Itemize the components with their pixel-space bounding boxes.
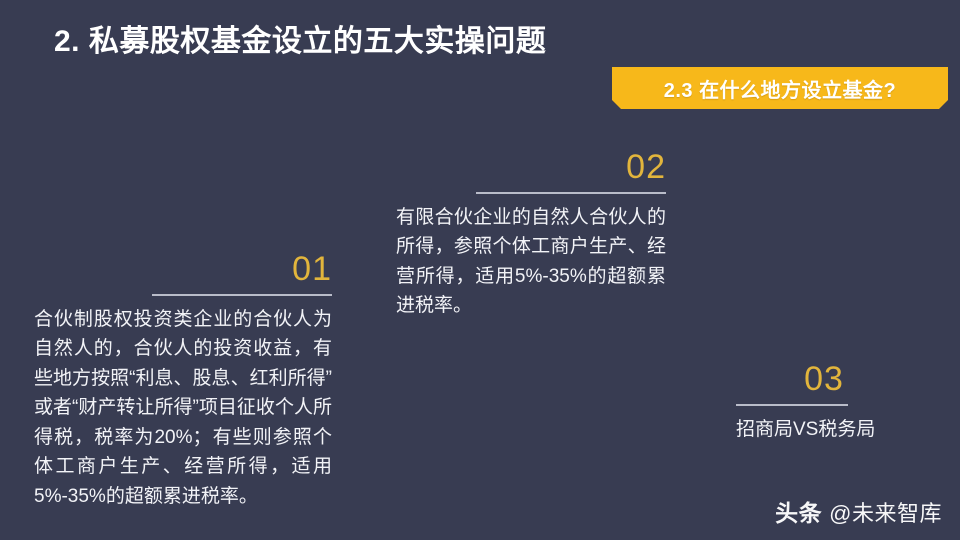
block-body-03: 招商局VS税务局 [736,415,912,444]
watermark: 头条 @未来智库 [775,494,942,528]
block-divider-02 [476,192,666,194]
block-number-03: 03 [736,362,912,396]
numbered-block-01: 01 合伙制股权投资类企业的合伙人为自然人的，合伙人的投资收益，有些地方按照“利… [34,252,332,511]
numbered-block-02: 02 有限合伙企业的自然人合伙人的所得，参照个体工商户生产、经营所得，适用5%-… [396,150,666,321]
block-number-01: 01 [34,252,332,286]
watermark-brand: 头条 [775,494,822,528]
watermark-handle: @未来智库 [829,496,942,528]
numbered-block-03: 03 招商局VS税务局 [736,362,912,444]
slide-canvas: 2. 私募股权基金设立的五大实操问题 2.3 在什么地方设立基金? 01 合伙制… [0,0,960,540]
block-number-02: 02 [396,150,666,184]
block-divider-03 [736,404,848,406]
section-banner: 2.3 在什么地方设立基金? [612,67,948,109]
section-banner-label: 2.3 在什么地方设立基金? [612,67,948,109]
block-body-02: 有限合伙企业的自然人合伙人的所得，参照个体工商户生产、经营所得，适用5%-35%… [396,203,666,321]
block-divider-01 [152,294,332,296]
block-body-01: 合伙制股权投资类企业的合伙人为自然人的，合伙人的投资收益，有些地方按照“利息、股… [34,305,332,511]
page-title: 2. 私募股权基金设立的五大实操问题 [54,16,546,60]
